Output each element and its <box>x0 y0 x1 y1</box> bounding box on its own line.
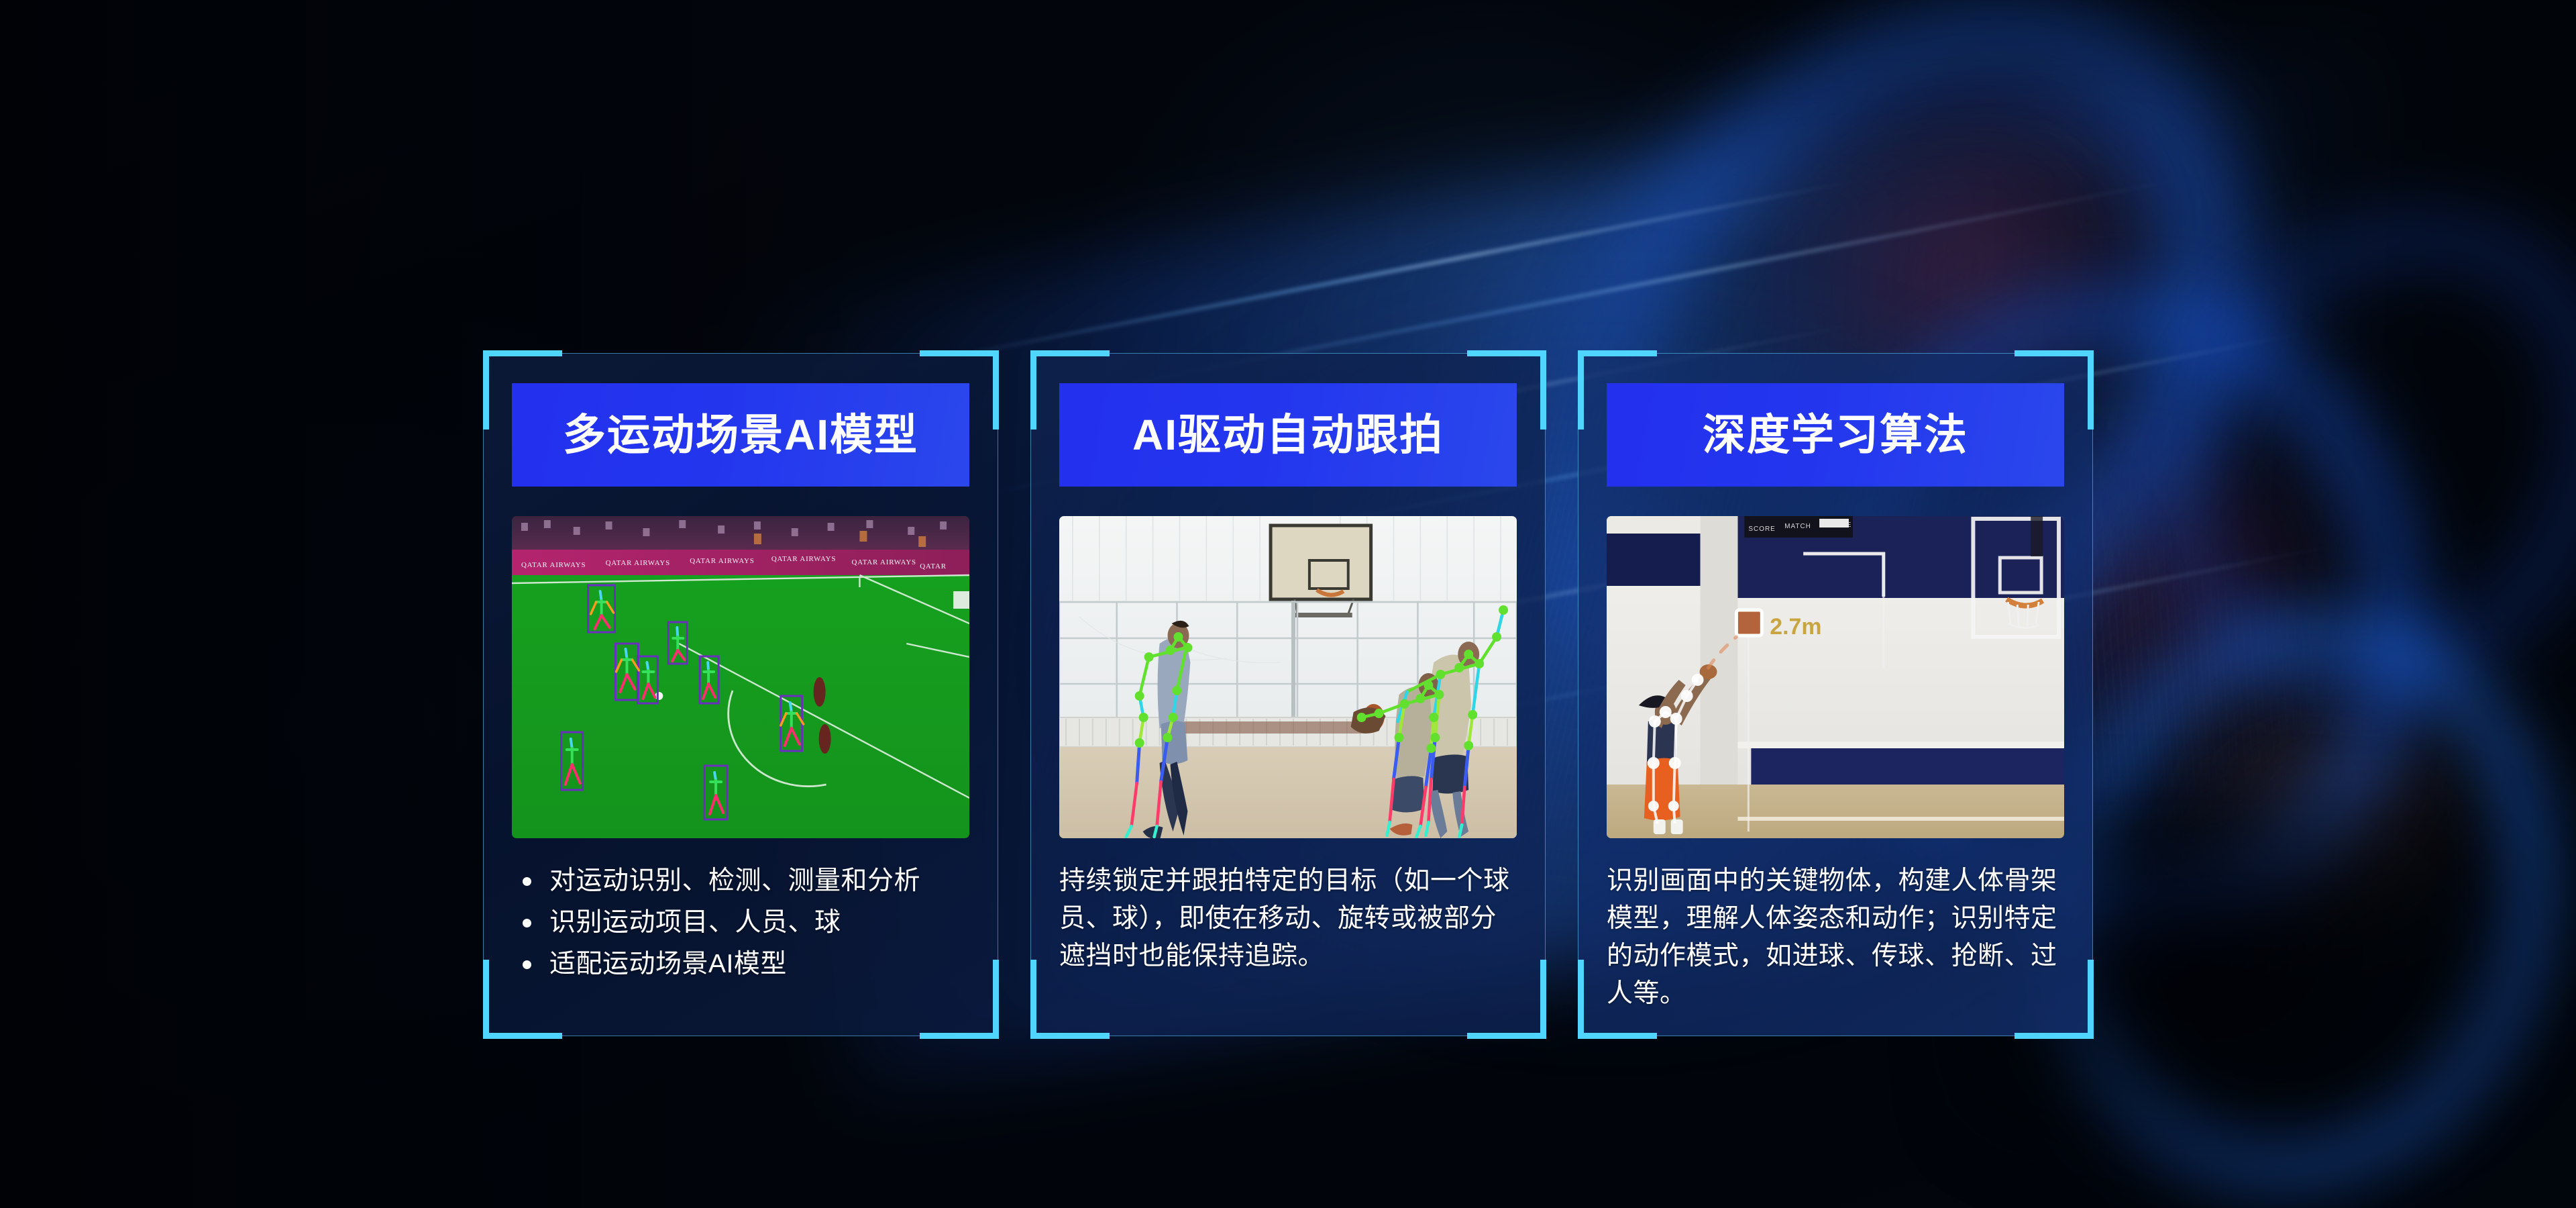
basketball-shot-measure-thumbnail: SCORE MATCH SCORE <box>1607 516 2064 838</box>
card-body: 对运动识别、检测、测量和分析 识别运动项目、人员、球 适配运动场景AI模型 <box>512 862 969 987</box>
svg-text:QATAR AIRWAYS: QATAR AIRWAYS <box>852 558 916 566</box>
feature-bullet-list: 对运动识别、检测、测量和分析 识别运动项目、人员、球 适配运动场景AI模型 <box>512 862 969 983</box>
card-body: 持续锁定并跟拍特定的目标（如一个球员、球），即使在移动、旋转或被部分遮挡时也能保… <box>1059 862 1517 975</box>
list-item: 适配运动场景AI模型 <box>512 946 969 983</box>
measurement-label: 2.7m <box>1770 614 1821 640</box>
card-title-band: 多运动场景AI模型 <box>512 383 969 487</box>
list-item: 对运动识别、检测、测量和分析 <box>512 862 969 900</box>
svg-text:QATAR AIRWAYS: QATAR AIRWAYS <box>690 557 754 565</box>
list-item: 识别运动项目、人员、球 <box>512 904 969 942</box>
svg-text:MATCH: MATCH <box>1784 523 1811 530</box>
card-title-band: 深度学习算法 <box>1607 383 2064 487</box>
card-title: 深度学习算法 <box>1703 413 1968 456</box>
svg-text:QATAR AIRWAYS: QATAR AIRWAYS <box>606 559 670 567</box>
card-title: 多运动场景AI模型 <box>563 413 918 456</box>
feature-card-row: 多运动场景AI模型 <box>483 353 2093 1036</box>
feature-card-ai-auto-tracking[interactable]: AI驱动自动跟拍 <box>1030 353 1546 1036</box>
card-title: AI驱动自动跟拍 <box>1132 413 1444 456</box>
feature-card-multi-sport-ai-model[interactable]: 多运动场景AI模型 <box>483 353 998 1036</box>
svg-text:QATAR AIRWAYS: QATAR AIRWAYS <box>771 555 836 563</box>
feature-card-deep-learning-algorithm[interactable]: 深度学习算法 <box>1578 353 2093 1036</box>
card-title-band: AI驱动自动跟拍 <box>1059 383 1517 487</box>
svg-text:SCORE: SCORE <box>1748 525 1775 533</box>
card-body: 识别画面中的关键物体，构建人体骨架模型，理解人体姿态和动作；识别特定的动作模式，… <box>1607 862 2064 1013</box>
svg-text:QATAR: QATAR <box>920 562 947 570</box>
svg-text:QATAR AIRWAYS: QATAR AIRWAYS <box>521 561 586 569</box>
soccer-pitch-detection-thumbnail: QATAR AIRWAYS QATAR AIRWAYS QATAR AIRWAY… <box>512 516 969 838</box>
basketball-gym-pose-thumbnail <box>1059 516 1517 838</box>
